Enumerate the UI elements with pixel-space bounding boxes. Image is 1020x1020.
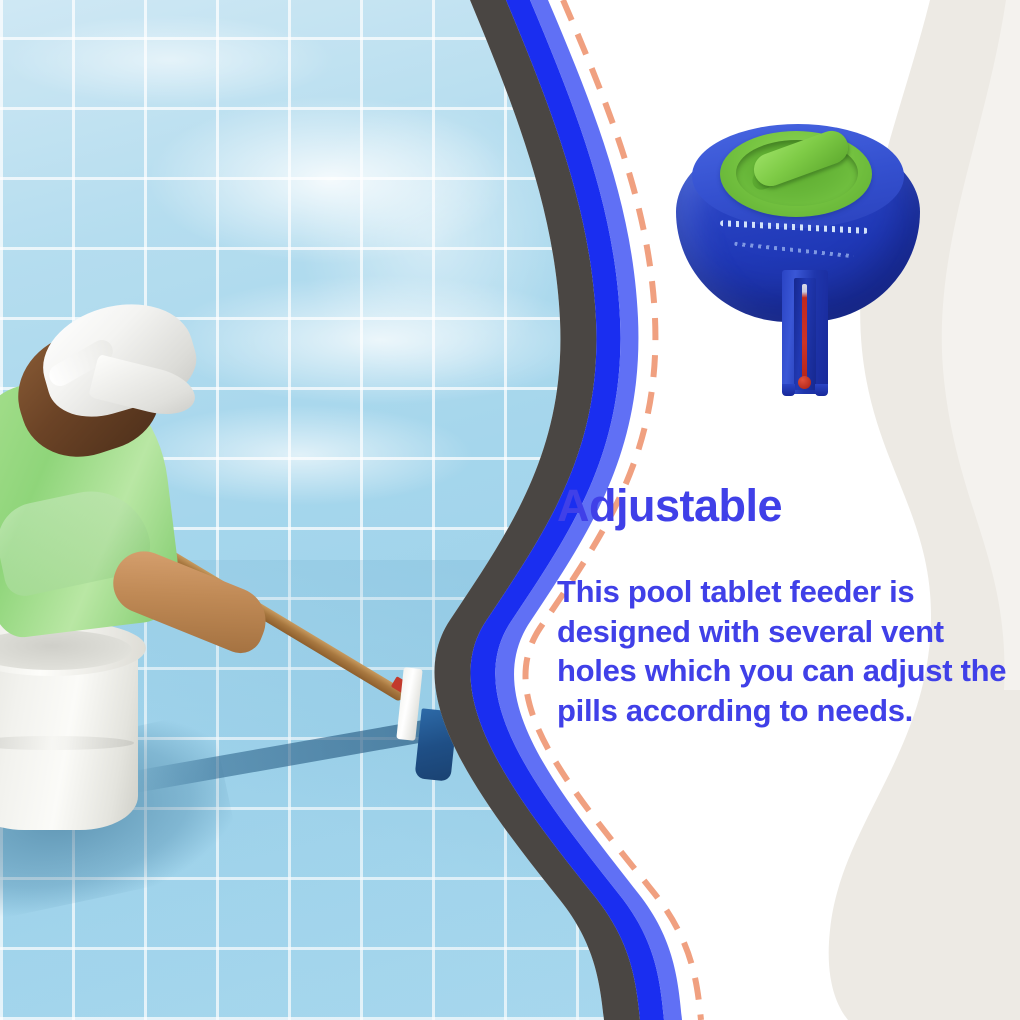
brush-bristles: [414, 708, 457, 781]
thermometer-foot-left: [782, 384, 795, 396]
worker-arm: [104, 542, 276, 659]
product-image-chlorine-dispenser: [676, 118, 936, 393]
thermometer-foot-right: [815, 384, 828, 396]
thermometer-bulb: [798, 376, 811, 389]
feature-description: This pool tablet feeder is designed with…: [557, 572, 1007, 731]
promo-banner: Adjustable This pool tablet feeder is de…: [0, 0, 1020, 1020]
feature-text-block: Adjustable This pool tablet feeder is de…: [557, 483, 1007, 731]
pool-worker: [0, 280, 260, 700]
feature-headline: Adjustable: [557, 483, 1007, 528]
thermometer-tube: [802, 284, 807, 382]
